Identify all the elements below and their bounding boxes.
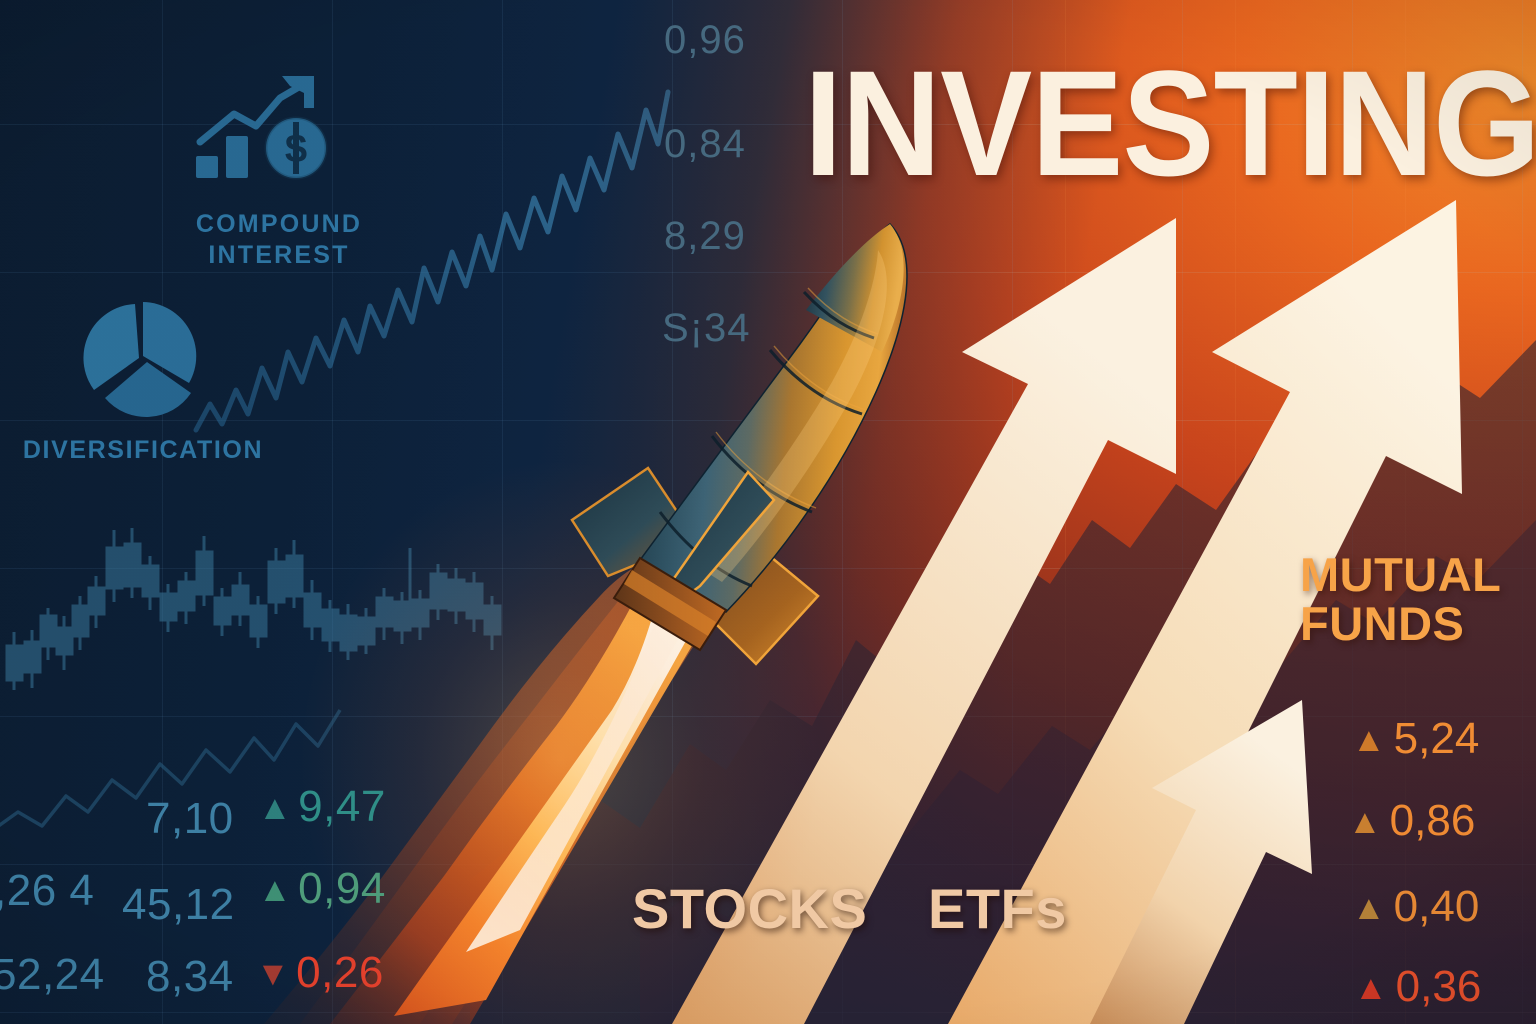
vignette-overlay <box>0 0 1536 1024</box>
investing-hero-graphic: $ COMPOUND INTEREST DIVERSIFICATION 0,96… <box>0 0 1536 1024</box>
